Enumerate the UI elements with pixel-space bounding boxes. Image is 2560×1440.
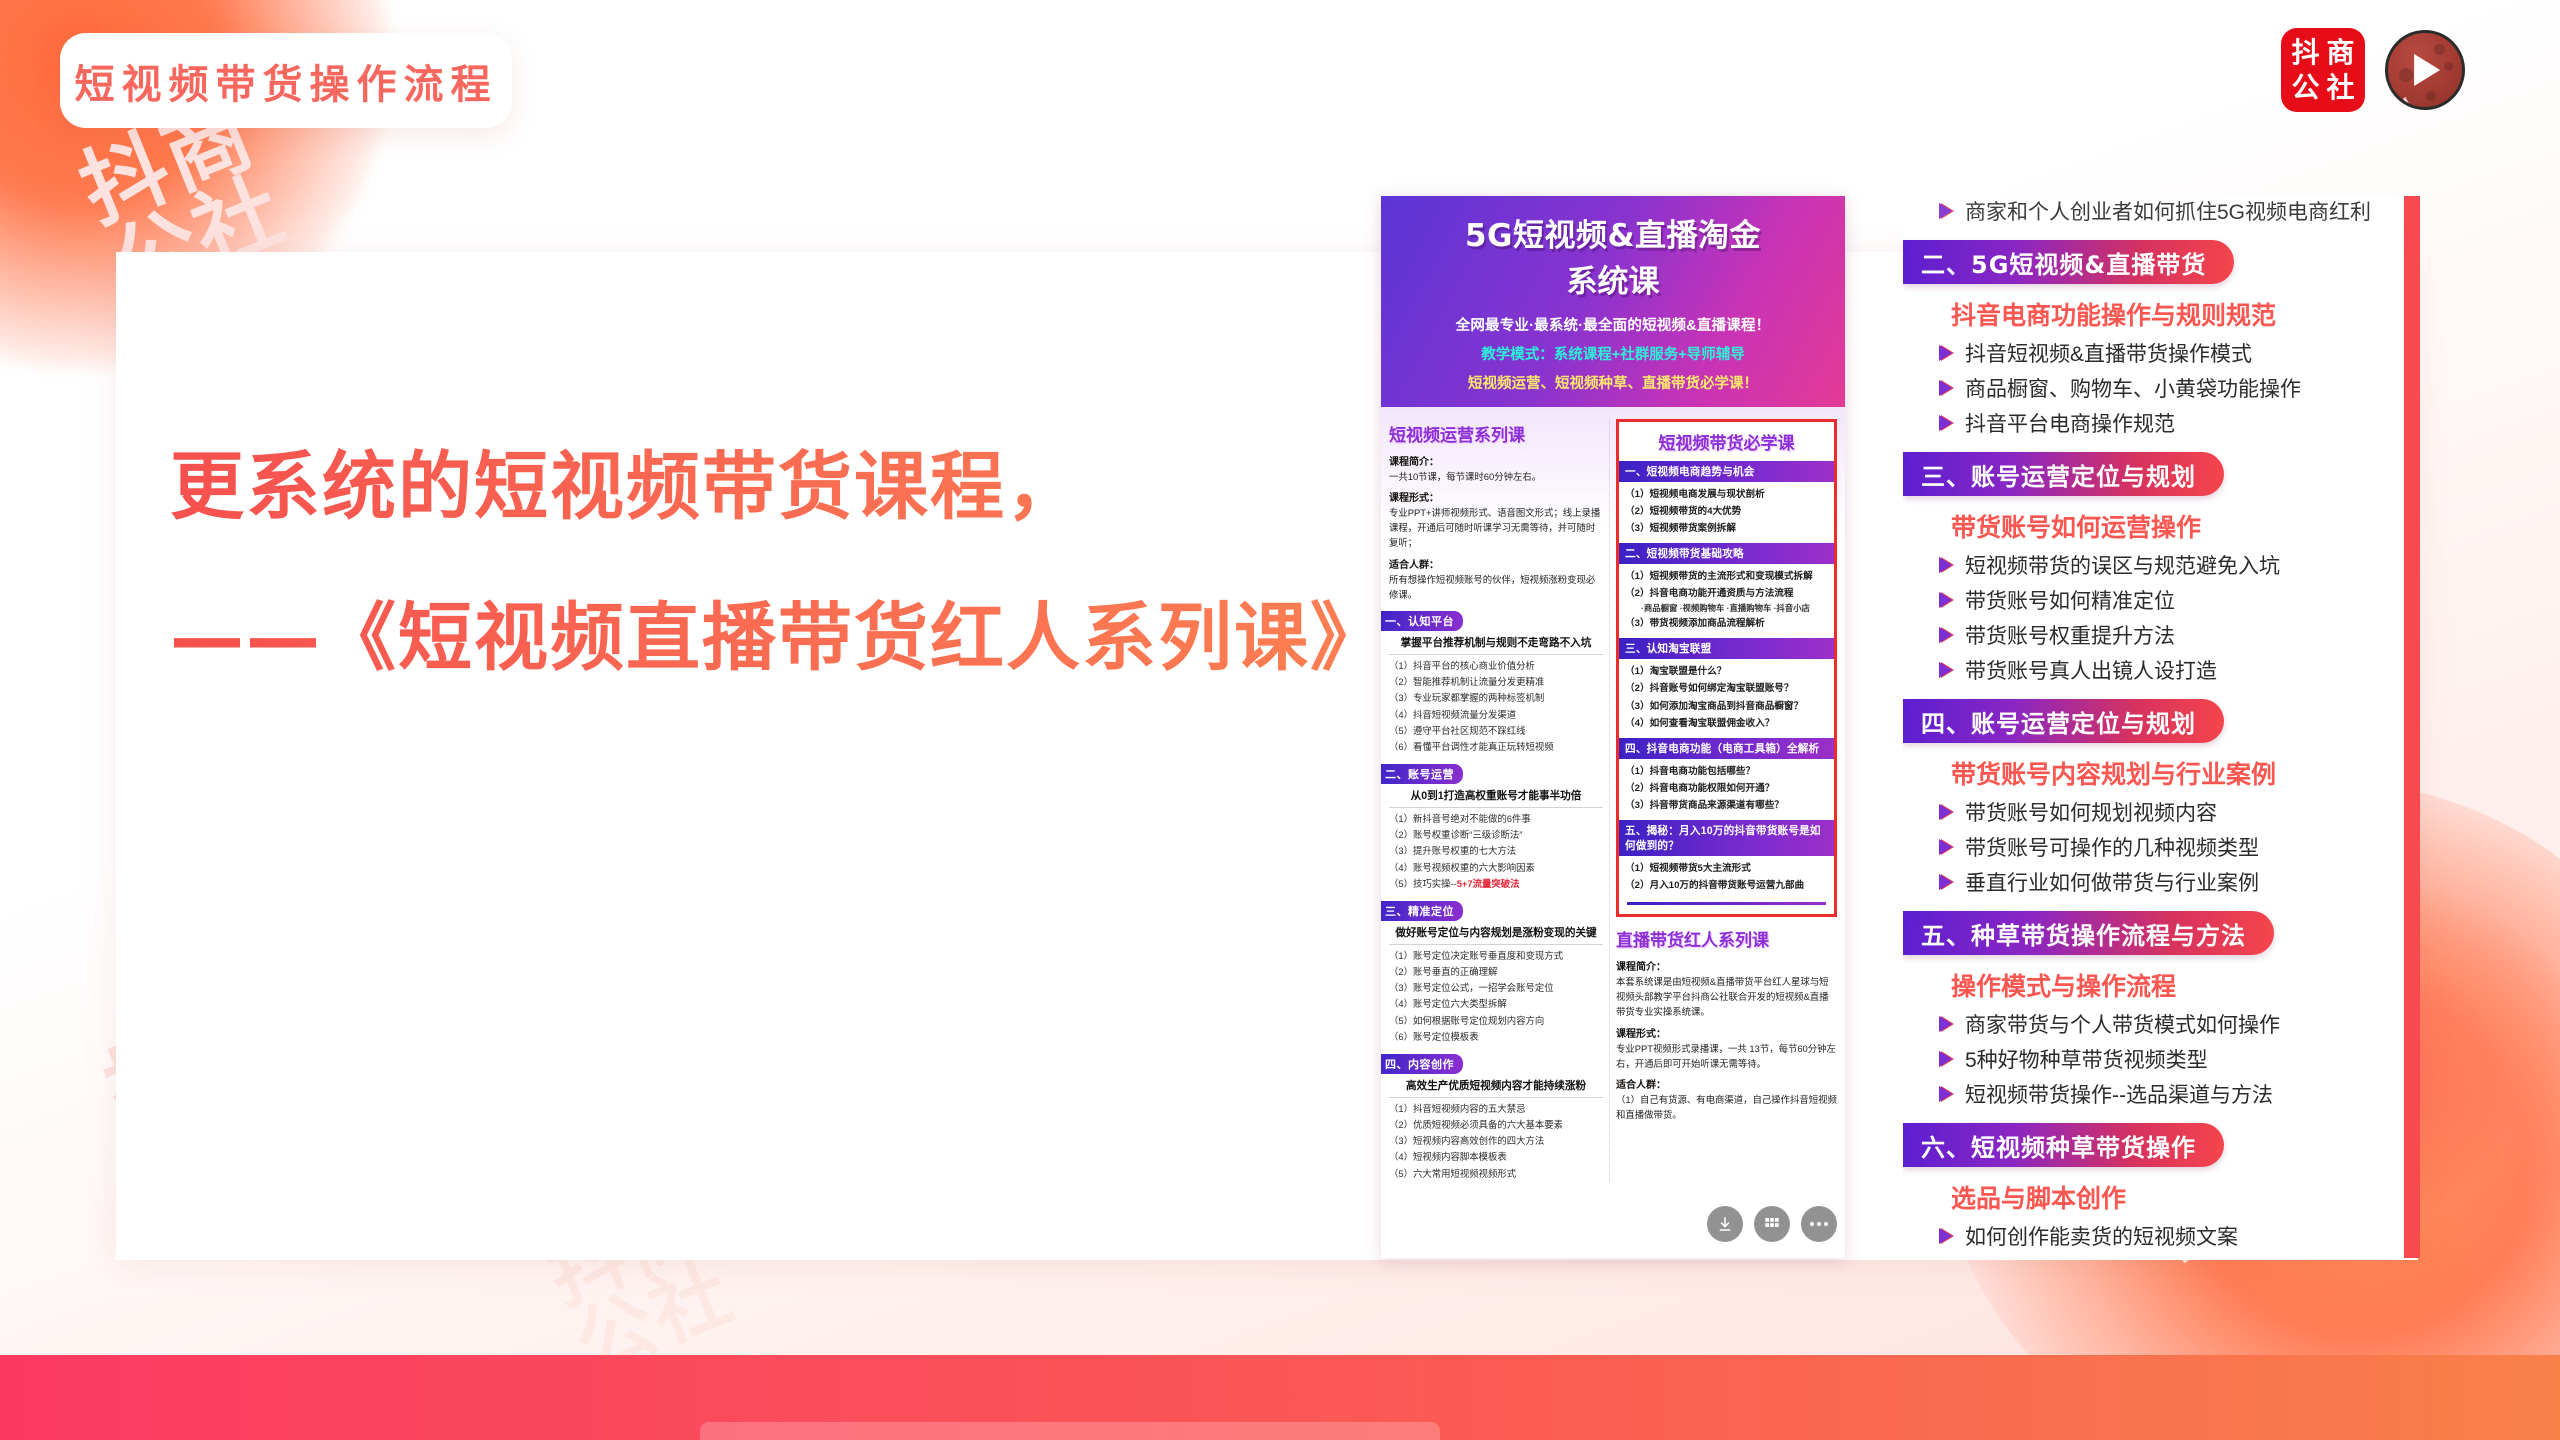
list-item: 抖音平台电商操作规范 (1939, 408, 2389, 438)
list-item: （5）六大常用短视频视频形式 (1389, 1166, 1603, 1182)
left-section: 一、认知平台 掌握平台推荐机制与规则不走弯路不入坑 （1）抖音平台的核心商业价值… (1389, 602, 1603, 755)
form-label: 课程形式： (1389, 489, 1603, 504)
bottom-notch (700, 1422, 1440, 1440)
brand-char: 商 (2326, 39, 2354, 67)
triangle-bullet-icon (1939, 1051, 1952, 1067)
list-item: （3）提升账号权重的七大方法 (1389, 843, 1603, 859)
outline-section-subtitle: 带货账号内容规划与行业案例 (1951, 755, 2389, 791)
poster-body: 短视频运营系列课 课程简介： 一共10节课，每节课时60分钟左右。 课程形式： … (1381, 407, 1845, 1182)
outline-item-label: 短视频带货脚本设计 (1965, 1256, 2154, 1258)
brand-char: 公 (2291, 74, 2319, 102)
audience-text: 所有想操作短视频账号的伙伴，短视频涨粉变现必修课。 (1389, 572, 1603, 602)
list-item: （3）短视频内容高效创作的四大方法 (1389, 1133, 1603, 1149)
outline-section: 四、账号运营定位与规划 带货账号内容规划与行业案例 带货账号如何规划视频内容 带… (1917, 699, 2389, 897)
form-text: 专业PPT视频形式录播课，一共 13节，每节60分钟左右，开通后即可开始听课无需… (1616, 1041, 1837, 1071)
list-item: 抖音短视频&直播带货操作模式 (1939, 338, 2389, 368)
intro-text: 本套系统课是由短视频&直播带货平台红人星球与短视频头部教学平台抖商公社联合开发的… (1616, 974, 1837, 1020)
right-section: 四、抖音电商功能（电商工具箱）全解析 （1）抖音电商功能包括哪些？ （2）抖音电… (1625, 738, 1828, 814)
triangle-bullet-icon (1939, 874, 1952, 890)
list-item: （4）抖音短视频流量分发渠道 (1389, 707, 1603, 723)
outline-section-subtitle: 带货账号如何运营操作 (1951, 508, 2389, 544)
list-item: （4）短视频内容脚本模板表 (1389, 1149, 1603, 1165)
outline-partial-item: 商家和个人创业者如何抓住5G视频电商红利 (1939, 196, 2389, 226)
right-section: 五、揭秘：月入10万的抖音带货账号是如何做到的？ （1）短视频带货5大主流形式 … (1625, 820, 1828, 894)
outline-item-label: 带货账号权重提升方法 (1965, 620, 2175, 650)
download-icon[interactable] (1707, 1206, 1743, 1242)
section-head: 四、内容创作 (1381, 1054, 1463, 1074)
list-item: （4）账号视频权重的六大影响因素 (1389, 860, 1603, 876)
section-subhead: 掌握平台推荐机制与规则不走弯路不入坑 (1389, 635, 1603, 655)
triangle-bullet-icon (1939, 1016, 1952, 1032)
form-text: 专业PPT+讲师视频形式、语音图文形式；线上录播课程，开通后可随时听课学习无需等… (1389, 505, 1603, 551)
outline-item-label: 垂直行业如何做带货与行业案例 (1965, 867, 2259, 897)
section-head: 二、短视频带货基础攻略 (1619, 543, 1834, 564)
list-item: 5种好物种草带货视频类型 (1939, 1044, 2389, 1074)
outline-item-label: 商家带货与个人带货模式如何操作 (1965, 1009, 2280, 1039)
right-course-title: 短视频带货必学课 (1625, 429, 1828, 454)
outline-item-label: 短视频带货操作--选品渠道与方法 (1965, 1079, 2273, 1109)
audience-label: 适合人群： (1389, 556, 1603, 571)
headline-line-1: 更系统的短视频带货课程， (170, 430, 1386, 545)
list-item: （3）短视频带货案例拆解 (1625, 520, 1828, 537)
list-item: （1）短视频带货的主流形式和变现模式拆解 (1625, 568, 1828, 585)
headline-line-2: ——《短视频直播带货红人系列课》 (170, 581, 1386, 696)
outline-section: 二、5G短视频&直播带货 抖音电商功能操作与规则规范 抖音短视频&直播带货操作模… (1917, 240, 2389, 438)
outline-section: 五、种草带货操作流程与方法 操作模式与操作流程 商家带货与个人带货模式如何操作 … (1917, 911, 2389, 1109)
outline-item-label: 抖音平台电商操作规范 (1965, 408, 2175, 438)
list-subnote: ·商品橱窗 ·视频购物车 ·直播购物车 ·抖音小店 (1641, 602, 1828, 615)
outline-section-subtitle: 抖音电商功能操作与规则规范 (1951, 296, 2389, 332)
list-item: （1）抖音电商功能包括哪些？ (1625, 763, 1828, 780)
section-divider (1627, 902, 1826, 905)
triangle-bullet-icon (1939, 592, 1952, 608)
list-item: （1）新抖音号绝对不能做的6件事 (1389, 811, 1603, 827)
outline-item-label: 带货账号如何规划视频内容 (1965, 797, 2217, 827)
section-head: 五、揭秘：月入10万的抖音带货账号是如何做到的？ (1619, 820, 1834, 856)
outline-section-pill[interactable]: 四、账号运营定位与规划 (1903, 699, 2224, 743)
outline-section: 三、账号运营定位与规划 带货账号如何运营操作 短视频带货的误区与规范避免入坑 带… (1917, 452, 2389, 685)
triangle-bullet-icon (1939, 415, 1952, 431)
list-item: （1）抖音短视频内容的五大禁忌 (1389, 1101, 1603, 1117)
list-item: （6）账号定位模板表 (1389, 1029, 1603, 1045)
list-item: 短视频带货的误区与规范避免入坑 (1939, 550, 2389, 580)
poster-subtitle-1: 全网最专业·最系统·最全面的短视频&直播课程！ (1391, 314, 1835, 335)
section-head: 三、认知淘宝联盟 (1619, 638, 1834, 659)
list-item: （4）账号定位六大类型拆解 (1389, 996, 1603, 1012)
list-item: （2）抖音电商功能开通资质与方法流程 (1625, 585, 1828, 602)
brand-logo: 抖 商 公 社 (2281, 28, 2365, 112)
list-item: （3）账号定位公式，一招学会账号定位 (1389, 980, 1603, 996)
section-subhead: 高效生产优质短视频内容才能持续涨粉 (1389, 1078, 1603, 1098)
list-item: （1）短视频带货5大主流形式 (1625, 860, 1828, 877)
triangle-bullet-icon (1939, 1228, 1952, 1244)
list-item: （5）如何根据账号定位规划内容方向 (1389, 1013, 1603, 1029)
poster-header: 5G短视频&直播淘金 系统课 全网最专业·最系统·最全面的短视频&直播课程！ 教… (1381, 196, 1845, 407)
poster-right-column: 短视频带货必学课 一、短视频电商趋势与机会 （1）短视频电商发展与现状剖析 （2… (1616, 419, 1837, 1182)
list-item: 短视频带货操作--选品渠道与方法 (1939, 1079, 2389, 1109)
section-subhead: 做好账号定位与内容规划是涨粉变现的关键 (1389, 925, 1603, 945)
list-item: （2）抖音电商功能权限如何开通？ (1625, 780, 1828, 797)
poster-left-column: 短视频运营系列课 课程简介： 一共10节课，每节课时60分钟左右。 课程形式： … (1389, 419, 1610, 1182)
poster-subtitle-2: 教学模式：系统课程+社群服务+导师辅导 (1391, 343, 1835, 364)
list-item: 商品橱窗、购物车、小黄袋功能操作 (1939, 373, 2389, 403)
page-title: 短视频带货操作流程 (75, 52, 498, 110)
course-poster[interactable]: 5G短视频&直播淘金 系统课 全网最专业·最系统·最全面的短视频&直播课程！ 教… (1381, 196, 1845, 1258)
outline-item-label: 带货账号真人出镜人设打造 (1965, 655, 2217, 685)
brand-char: 抖 (2291, 39, 2319, 67)
list-item: （2）账号权重诊断“三级诊断法” (1389, 827, 1603, 843)
vertical-divider (2404, 196, 2420, 1258)
poster-title-line-1: 5G短视频&直播淘金 (1391, 218, 1835, 255)
list-item: 带货账号可操作的几种视频类型 (1939, 832, 2389, 862)
section-head: 一、短视频电商趋势与机会 (1619, 461, 1834, 482)
section-head: 四、抖音电商功能（电商工具箱）全解析 (1619, 738, 1834, 759)
list-item: （2）智能推荐机制让流量分发更精准 (1389, 674, 1603, 690)
triangle-bullet-icon (1939, 1086, 1952, 1102)
poster-title-line-2: 系统课 (1391, 256, 1835, 301)
outline-section-pill[interactable]: 二、5G短视频&直播带货 (1903, 240, 2234, 284)
right-section: 三、认知淘宝联盟 （1）淘宝联盟是什么？ （2）抖音账号如何绑定淘宝联盟账号？ … (1625, 638, 1828, 731)
outline-item-label: 商家和个人创业者如何抓住5G视频电商红利 (1965, 196, 2371, 226)
list-item: （3）抖音带货商品来源渠道有哪些？ (1625, 797, 1828, 814)
right-section: 二、短视频带货基础攻略 （1）短视频带货的主流形式和变现模式拆解 （2）抖音电商… (1625, 543, 1828, 633)
form-label: 课程形式： (1616, 1025, 1837, 1040)
outline-item-label: 商品橱窗、购物车、小黄袋功能操作 (1965, 373, 2301, 403)
list-item: 带货账号真人出镜人设打造 (1939, 655, 2389, 685)
list-item: （2）账号垂直的正确理解 (1389, 964, 1603, 980)
triangle-bullet-icon (1939, 203, 1952, 219)
list-item: 垂直行业如何做带货与行业案例 (1939, 867, 2389, 897)
list-item: （6）看懂平台调性才能真正玩转短视频 (1389, 739, 1603, 755)
left-course-title: 短视频运营系列课 (1389, 421, 1603, 446)
audience-label: 适合人群： (1616, 1076, 1837, 1091)
list-item: （3）带货视频添加商品流程解析 (1625, 615, 1828, 632)
left-section: 四、内容创作 高效生产优质短视频内容才能持续涨粉 （1）抖音短视频内容的五大禁忌… (1389, 1045, 1603, 1182)
triangle-bullet-icon (1939, 839, 1952, 855)
headline-block: 更系统的短视频带货课程， ——《短视频直播带货红人系列课》 (170, 430, 1386, 695)
outline-section-pill[interactable]: 三、账号运营定位与规划 (1903, 452, 2224, 496)
highlight-text: 5+7流量突破法 (1457, 878, 1520, 889)
poster-subtitle-3: 短视频运营、短视频种草、直播带货必学课！ (1391, 372, 1835, 393)
grid-icon[interactable] (1754, 1206, 1790, 1242)
list-item: （1）短视频电商发展与现状剖析 (1625, 486, 1828, 503)
list-item: （2）月入10万的抖音带货账号运营九部曲 (1625, 877, 1828, 894)
list-item: （3）专业玩家都掌握的两种标签机制 (1389, 690, 1603, 706)
list-item: 带货账号如何精准定位 (1939, 585, 2389, 615)
left-section: 二、账号运营 从0到1打造高权重账号才能事半功倍 （1）新抖音号绝对不能做的6件… (1389, 755, 1603, 892)
outline-section: 六、短视频种草带货操作 选品与脚本创作 如何创作能卖货的短视频文案 短视频带货脚… (1917, 1123, 2389, 1258)
more-icon[interactable] (1801, 1206, 1837, 1242)
list-item: （1）淘宝联盟是什么？ (1625, 663, 1828, 680)
section-head: 二、账号运营 (1381, 764, 1463, 784)
outline-item-label: 如何创作能卖货的短视频文案 (1965, 1221, 2238, 1251)
triangle-bullet-icon (1939, 557, 1952, 573)
triangle-bullet-icon (1939, 804, 1952, 820)
list-item: （3）如何添加淘宝商品到抖音商品橱窗？ (1625, 698, 1828, 715)
list-item: （5）遵守平台社区规范不踩红线 (1389, 723, 1603, 739)
brand-char: 社 (2326, 74, 2354, 102)
intro-label: 课程简介： (1616, 958, 1837, 973)
outline-section-subtitle: 选品与脚本创作 (1951, 1179, 2389, 1215)
list-item: （1）抖音平台的核心商业价值分析 (1389, 658, 1603, 674)
second-course-title: 直播带货红人系列课 (1616, 926, 1837, 951)
outline-item-label: 带货账号可操作的几种视频类型 (1965, 832, 2259, 862)
audience-text: （1）自己有货源、有电商渠道，自己操作抖音短视频和直播做带货。 (1616, 1092, 1837, 1122)
triangle-bullet-icon (1939, 662, 1952, 678)
list-item: （2）优质短视频必须具备的六大基本要素 (1389, 1117, 1603, 1133)
list-item: 带货账号如何规划视频内容 (1939, 797, 2389, 827)
section-head: 三、精准定位 (1381, 901, 1463, 921)
triangle-bullet-icon (1939, 627, 1952, 643)
outline-item-label: 短视频带货的误区与规范避免入坑 (1965, 550, 2280, 580)
outline-item-label: 5种好物种草带货视频类型 (1965, 1044, 2208, 1074)
list-item: （4）如何查看淘宝联盟佣金收入？ (1625, 715, 1828, 732)
play-circle-icon (2385, 30, 2465, 110)
right-section: 一、短视频电商趋势与机会 （1）短视频电商发展与现状剖析 （2）短视频带货的4大… (1625, 461, 1828, 537)
list-item: （2）短视频带货的4大优势 (1625, 503, 1828, 520)
list-item: （1）账号定位决定账号垂直度和变现方式 (1389, 948, 1603, 964)
list-item: 短视频带货脚本设计 (1939, 1256, 2389, 1258)
outline-item-label: 带货账号如何精准定位 (1965, 585, 2175, 615)
must-learn-card: 短视频带货必学课 一、短视频电商趋势与机会 （1）短视频电商发展与现状剖析 （2… (1616, 419, 1837, 917)
section-subhead: 从0到1打造高权重账号才能事半功倍 (1389, 788, 1603, 808)
course-outline-panel: 商家和个人创业者如何抓住5G视频电商红利 二、5G短视频&直播带货 抖音电商功能… (1903, 196, 2403, 1258)
intro-text: 一共10节课，每节课时60分钟左右。 (1389, 469, 1603, 484)
brand-area: 抖 商 公 社 (2281, 28, 2465, 112)
outline-item-label: 抖音短视频&直播带货操作模式 (1965, 338, 2252, 368)
outline-section-pill[interactable]: 六、短视频种草带货操作 (1903, 1123, 2224, 1167)
section-head: 一、认知平台 (1381, 611, 1463, 631)
list-item: （2）抖音账号如何绑定淘宝联盟账号？ (1625, 680, 1828, 697)
list-item-highlight: （5）技巧实操--5+7流量突破法 (1389, 876, 1603, 892)
triangle-bullet-icon (1939, 345, 1952, 361)
outline-section-pill[interactable]: 五、种草带货操作流程与方法 (1903, 911, 2274, 955)
triangle-bullet-icon (1939, 380, 1952, 396)
list-item: 带货账号权重提升方法 (1939, 620, 2389, 650)
page-title-pill: 短视频带货操作流程 (60, 33, 512, 128)
poster-floating-actions[interactable] (1707, 1206, 1837, 1242)
outline-section-subtitle: 操作模式与操作流程 (1951, 967, 2389, 1003)
list-item: 如何创作能卖货的短视频文案 (1939, 1221, 2389, 1251)
intro-label: 课程简介： (1389, 453, 1603, 468)
left-section: 三、精准定位 做好账号定位与内容规划是涨粉变现的关键 （1）账号定位决定账号垂直… (1389, 892, 1603, 1045)
list-item: 商家带货与个人带货模式如何操作 (1939, 1009, 2389, 1039)
